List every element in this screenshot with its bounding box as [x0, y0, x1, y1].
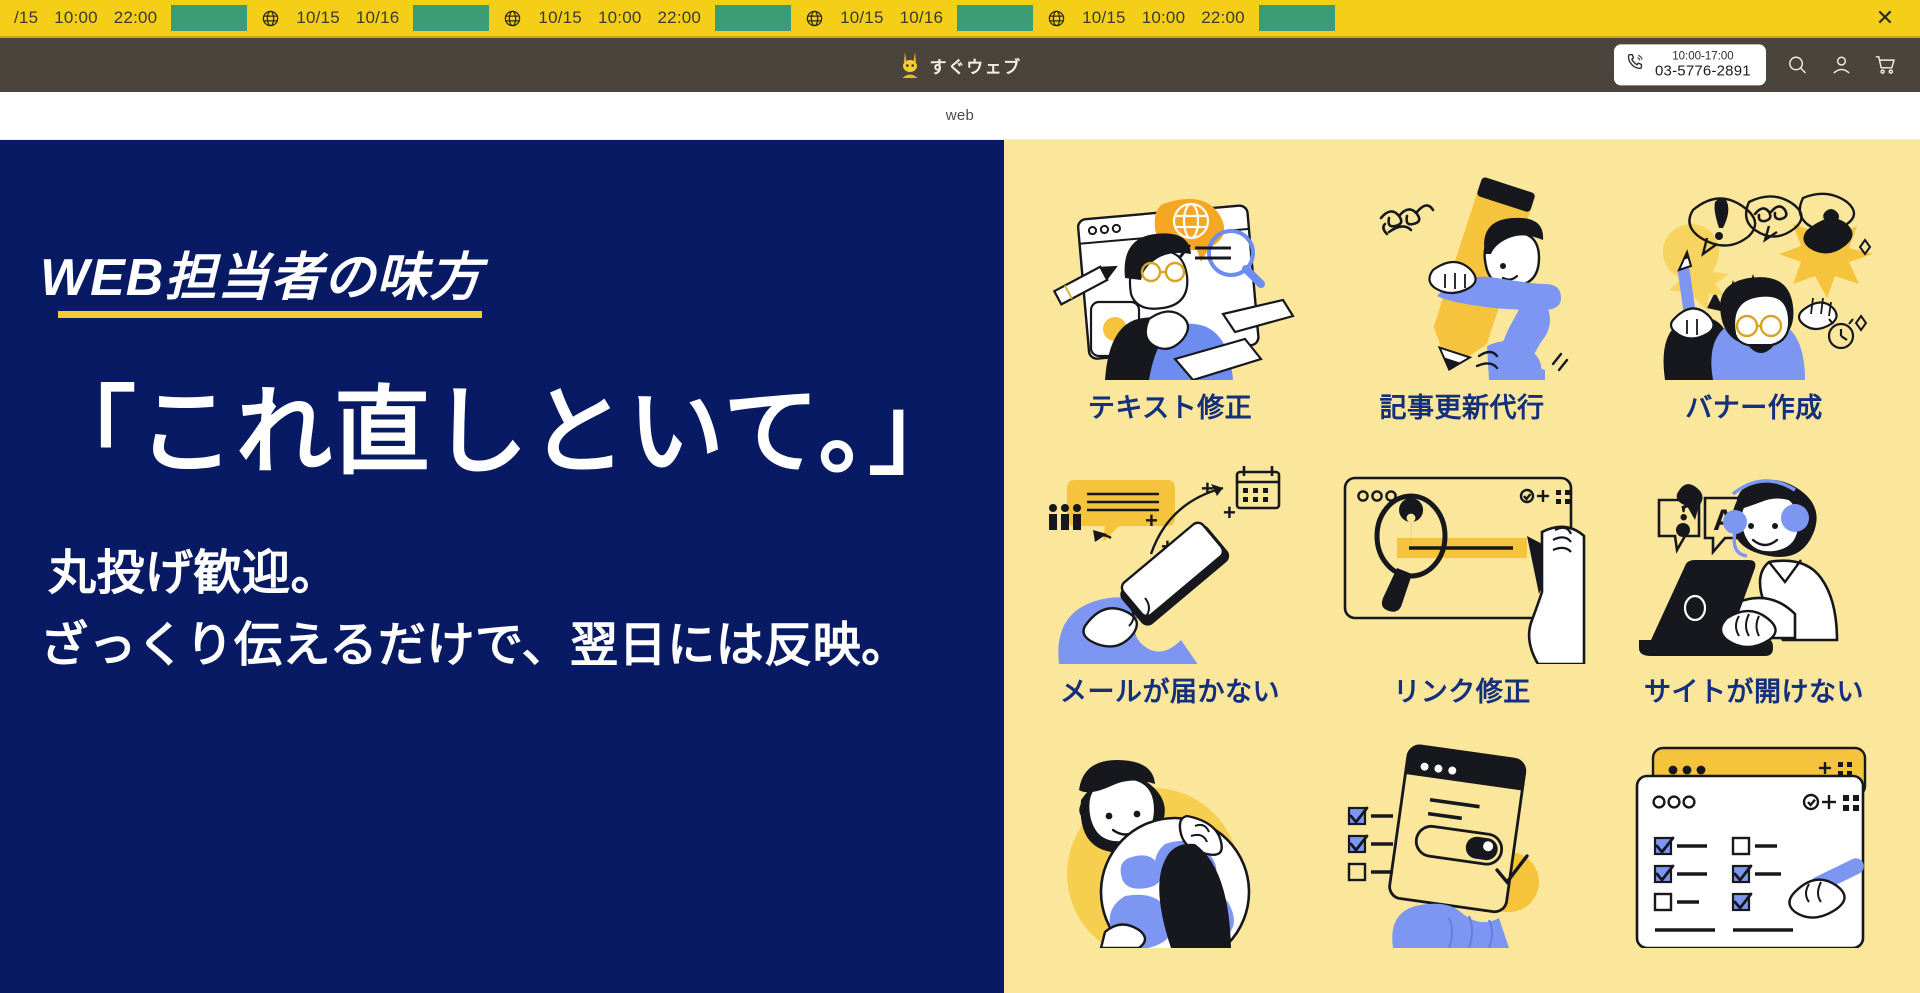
svg-text:?: ? — [1675, 484, 1695, 529]
marquee-item: 10/15 10:00 22:00 — [1033, 8, 1259, 28]
marquee-item: 10/15 10/16 — [247, 8, 413, 28]
globe-icon — [1047, 9, 1066, 28]
service-label: サイトが開けない — [1644, 670, 1864, 709]
globe-icon — [503, 9, 522, 28]
hero-subheadline-line-1: 丸投げ歓迎。 — [48, 538, 1004, 610]
marquee-date: 10/15 — [538, 8, 582, 28]
marquee-time-start: 10:00 — [54, 8, 98, 28]
secondary-nav: web — [0, 92, 1920, 140]
browser-magnifier-cursor-icon — [1337, 458, 1587, 664]
marquee-time-end: 22:00 — [1201, 8, 1245, 28]
rabbit-mascot-icon — [899, 50, 921, 80]
service-label: テキスト修正 — [1088, 386, 1252, 425]
person-thinking-globe-icon — [1045, 174, 1295, 380]
phone-icon — [1624, 51, 1646, 78]
marquee-time-start: 10:00 — [598, 8, 642, 28]
service-card[interactable] — [1028, 742, 1312, 993]
hero-headline: 「これ直しといて。」 — [40, 382, 1004, 484]
checklist-browser-icon — [1337, 742, 1587, 948]
marquee-time-start: 10:00 — [1142, 8, 1186, 28]
marquee-item: /15 10:00 22:00 — [0, 8, 171, 28]
hero-eyebrow: WEB担当者の味方 — [40, 252, 482, 318]
service-card[interactable]: テキスト修正 — [1028, 174, 1312, 452]
hero-section: WEB担当者の味方 「これ直しといて。」 丸投げ歓迎。 ざっくり伝えるだけで、翌… — [0, 140, 1920, 993]
hero-eyebrow-underline — [58, 311, 482, 318]
service-label: バナー作成 — [1685, 386, 1823, 425]
site-header: すぐウェブ 10:00-17:00 03-5776-2891 — [0, 36, 1920, 92]
marquee-block — [171, 5, 247, 31]
header-actions: 10:00-17:00 03-5776-2891 — [1614, 44, 1898, 85]
service-label: 記事更新代行 — [1380, 386, 1545, 425]
service-card[interactable]: 記事更新代行 — [1320, 174, 1604, 452]
hero-copy-panel: WEB担当者の味方 「これ直しといて。」 丸投げ歓迎。 ざっくり伝えるだけで、翌… — [0, 140, 1004, 993]
account-icon[interactable] — [1828, 52, 1854, 78]
svg-text:+: + — [1223, 500, 1236, 525]
promo-marquee-banner[interactable]: /15 10:00 22:00 10/15 10/16 — [0, 0, 1920, 36]
support-agent-laptop-icon: ? A — [1629, 458, 1879, 664]
person-globe-icon — [1045, 742, 1295, 948]
search-icon[interactable] — [1784, 52, 1810, 78]
form-checklist-pen-icon — [1629, 742, 1879, 948]
marquee-date: 10/15 — [296, 8, 340, 28]
marquee-block — [715, 5, 791, 31]
hand-phone-message-icon: + + + + — [1045, 458, 1295, 664]
person-hugging-pencil-icon — [1337, 174, 1587, 380]
service-card[interactable]: + + + + — [1028, 458, 1312, 736]
phone-number: 03-5776-2891 — [1655, 63, 1751, 80]
marquee-item: 10/15 10/16 — [791, 8, 957, 28]
marquee-date: 10/15 — [840, 8, 884, 28]
person-celebrating-pencil-icon — [1629, 174, 1879, 380]
cart-icon[interactable] — [1872, 52, 1898, 78]
brand-logo-link[interactable]: すぐウェブ — [899, 50, 1022, 80]
service-card[interactable] — [1320, 742, 1604, 993]
hero-subheadline: 丸投げ歓迎。 ざっくり伝えるだけで、翌日には反映。 — [40, 538, 1004, 682]
marquee-block — [957, 5, 1033, 31]
marquee-date: /15 — [14, 8, 38, 28]
marquee-track: /15 10:00 22:00 10/15 10/16 — [0, 5, 1920, 31]
service-label: メールが届かない — [1060, 670, 1280, 709]
services-grid: テキスト修正 — [1028, 174, 1896, 993]
marquee-item: 10/15 10:00 22:00 — [489, 8, 715, 28]
hero-eyebrow-text: WEB担当者の味方 — [40, 252, 482, 304]
globe-icon — [805, 9, 824, 28]
marquee-date-end: 10/16 — [900, 8, 944, 28]
close-icon[interactable]: ✕ — [1872, 5, 1898, 31]
service-card[interactable]: バナー作成 — [1612, 174, 1896, 452]
phone-contact-chip[interactable]: 10:00-17:00 03-5776-2891 — [1614, 44, 1766, 85]
marquee-time-end: 22:00 — [658, 8, 702, 28]
marquee-block — [1259, 5, 1335, 31]
globe-icon — [261, 9, 280, 28]
marquee-date: 10/15 — [1082, 8, 1126, 28]
service-card[interactable]: ? A — [1612, 458, 1896, 736]
phone-hours: 10:00-17:00 — [1655, 50, 1751, 63]
marquee-block — [413, 5, 489, 31]
service-label: リンク修正 — [1393, 670, 1531, 709]
service-card[interactable]: リンク修正 — [1320, 458, 1604, 736]
svg-text:+: + — [1145, 508, 1158, 533]
nav-label-web[interactable]: web — [946, 107, 974, 124]
service-card[interactable] — [1612, 742, 1896, 993]
hero-subheadline-line-2: ざっくり伝えるだけで、翌日には反映。 — [40, 610, 1004, 682]
marquee-time-end: 22:00 — [114, 8, 158, 28]
services-panel: テキスト修正 — [1004, 140, 1920, 993]
phone-text-group: 10:00-17:00 03-5776-2891 — [1655, 50, 1751, 79]
svg-text:+: + — [1201, 476, 1214, 501]
brand-name: すぐウェブ — [930, 53, 1022, 78]
marquee-date-end: 10/16 — [356, 8, 400, 28]
